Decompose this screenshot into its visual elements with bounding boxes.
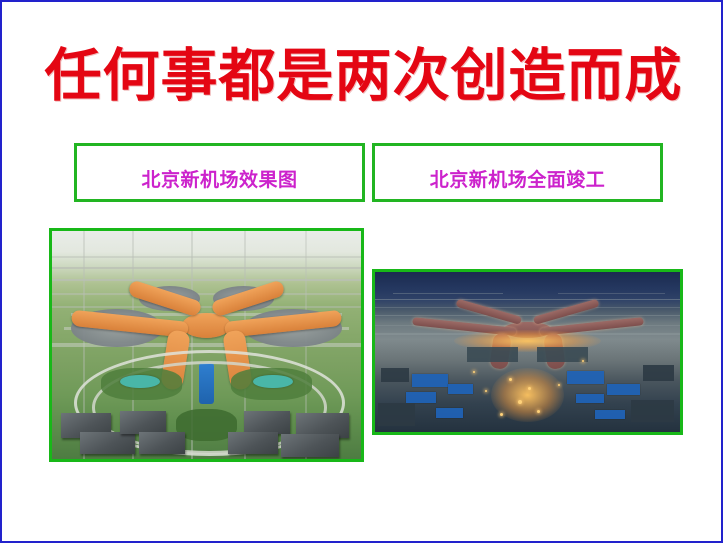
page-title: 任何事都是两次创造而成 <box>2 44 723 110</box>
caption-box-right[interactable]: 北京新机场全面竣工 <box>372 143 663 202</box>
airport-night-photo-image <box>375 272 680 432</box>
caption-left-label: 北京新机场效果图 <box>141 153 297 193</box>
picture-right-frame[interactable] <box>372 269 683 435</box>
caption-right-label: 北京新机场全面竣工 <box>430 153 606 193</box>
airport-rendering-image <box>52 231 361 459</box>
picture-left-frame[interactable] <box>49 228 364 462</box>
caption-box-left[interactable]: 北京新机场效果图 <box>74 143 365 202</box>
slide-canvas: 任何事都是两次创造而成 北京新机场效果图 北京新机场全面竣工 <box>0 0 723 543</box>
